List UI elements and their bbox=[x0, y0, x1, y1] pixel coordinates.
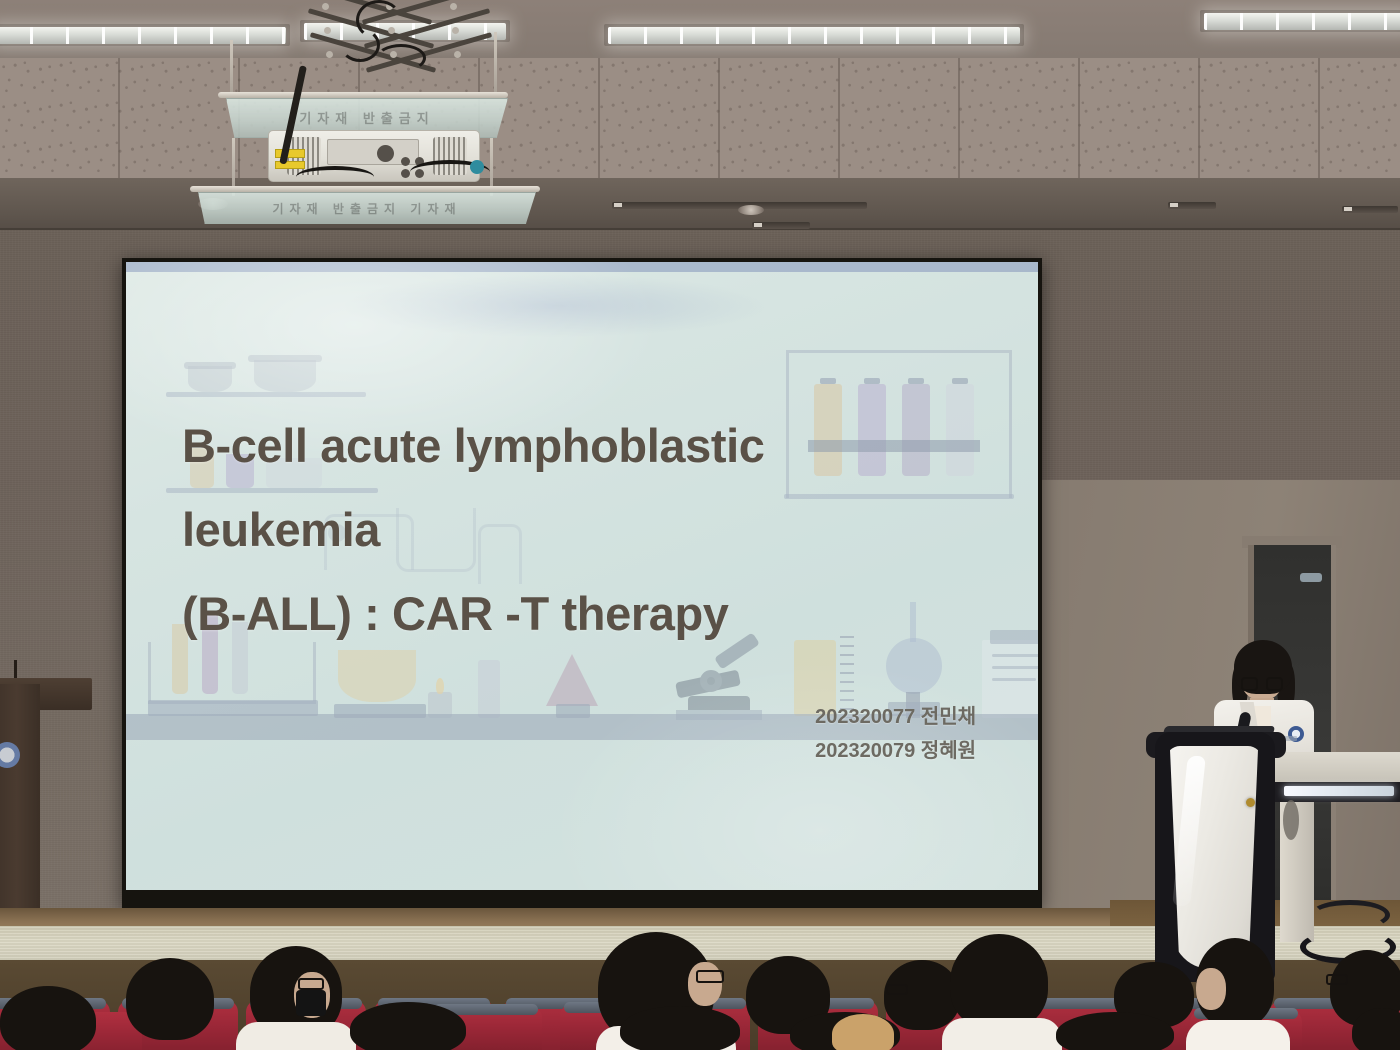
audience-head bbox=[1056, 1012, 1174, 1050]
ceiling-strip-light-4 bbox=[1204, 13, 1400, 30]
bottle-cap-1 bbox=[820, 378, 836, 384]
projection-screen[interactable]: B-cell acute lymphoblastic leukemia (B-A… bbox=[122, 258, 1042, 908]
document-header bbox=[990, 630, 1038, 644]
projector-connector bbox=[470, 160, 484, 174]
audience-shoulders bbox=[236, 1022, 356, 1050]
bottle-cap-2 bbox=[864, 378, 880, 384]
face-mask-icon bbox=[296, 990, 326, 1016]
bottle-cap-4 bbox=[952, 378, 968, 384]
ceiling-tile-grid bbox=[0, 58, 1400, 178]
projector-glass-shelf-lower: 기자재 반출금지 기자재 bbox=[198, 192, 536, 224]
projector-cable-loop-3 bbox=[376, 44, 426, 72]
audience-head bbox=[620, 1006, 740, 1050]
eyeglasses-icon bbox=[886, 984, 908, 995]
screen-glow-right bbox=[546, 658, 1038, 890]
presenter-glasses-icon bbox=[1241, 677, 1283, 691]
audience-shoulders bbox=[1186, 1020, 1290, 1050]
podium-desk-light bbox=[1284, 786, 1394, 796]
floor-cable-2 bbox=[1310, 900, 1390, 930]
door-handle[interactable] bbox=[1300, 573, 1322, 582]
ceiling-strip-light-1 bbox=[0, 27, 286, 44]
slide-author-2: 202320079 정혜원 bbox=[815, 734, 976, 768]
rig-hanger-rod-left bbox=[230, 40, 233, 98]
audience-head bbox=[350, 1002, 466, 1050]
projector-cable-loop-2 bbox=[340, 28, 380, 62]
acoustic-ceiling-tiles bbox=[0, 58, 1400, 178]
podium-side-oval bbox=[1283, 800, 1299, 840]
wooden-lectern[interactable] bbox=[0, 684, 40, 914]
recessed-slot-light-6 bbox=[1342, 206, 1398, 213]
audience-head bbox=[0, 986, 96, 1050]
cylinder-icon bbox=[478, 660, 500, 718]
slide-title: B-cell acute lymphoblastic leukemia (B-A… bbox=[182, 404, 972, 656]
recessed-slot-light-5 bbox=[1168, 202, 1216, 209]
eyeglasses-icon bbox=[1326, 974, 1348, 985]
bottle-cap-3 bbox=[908, 378, 924, 384]
rig-hanger-rod-right bbox=[494, 32, 497, 98]
rig-lower-rail bbox=[190, 186, 540, 192]
audience-face bbox=[1196, 968, 1226, 1010]
eyeglasses-icon bbox=[298, 978, 324, 990]
recessed-downlight-5 bbox=[738, 205, 764, 215]
audience-head bbox=[126, 958, 214, 1040]
audience-head bbox=[884, 960, 960, 1030]
eyeglasses-icon bbox=[696, 970, 724, 983]
slide-author-1: 202320077 전민채 bbox=[815, 700, 976, 734]
petri-dish-icon bbox=[338, 650, 416, 702]
audience-head bbox=[950, 934, 1048, 1030]
slide-surface: B-cell acute lymphoblastic leukemia (B-A… bbox=[126, 262, 1038, 890]
lecture-hall-scene: 기자재 반출금지 기자재 반출금지 기자재 bbox=[0, 0, 1400, 1050]
slide-authors: 202320077 전민채 202320079 정혜원 bbox=[815, 700, 976, 768]
slide-title-line-1: B-cell acute lymphoblastic leukemia bbox=[182, 404, 972, 572]
rig-upper-rail bbox=[218, 92, 508, 98]
recessed-slot-light-2 bbox=[752, 222, 810, 229]
audience-face bbox=[688, 962, 722, 1006]
podium-logo-dot bbox=[1246, 798, 1255, 807]
slide-title-line-2: (B-ALL) : CAR -T therapy bbox=[182, 572, 972, 656]
podium-desk-arm bbox=[1272, 752, 1400, 786]
audience-shoulders bbox=[942, 1018, 1062, 1050]
ceiling-strip-light-3 bbox=[608, 27, 1020, 44]
audience-head bbox=[790, 1012, 900, 1050]
